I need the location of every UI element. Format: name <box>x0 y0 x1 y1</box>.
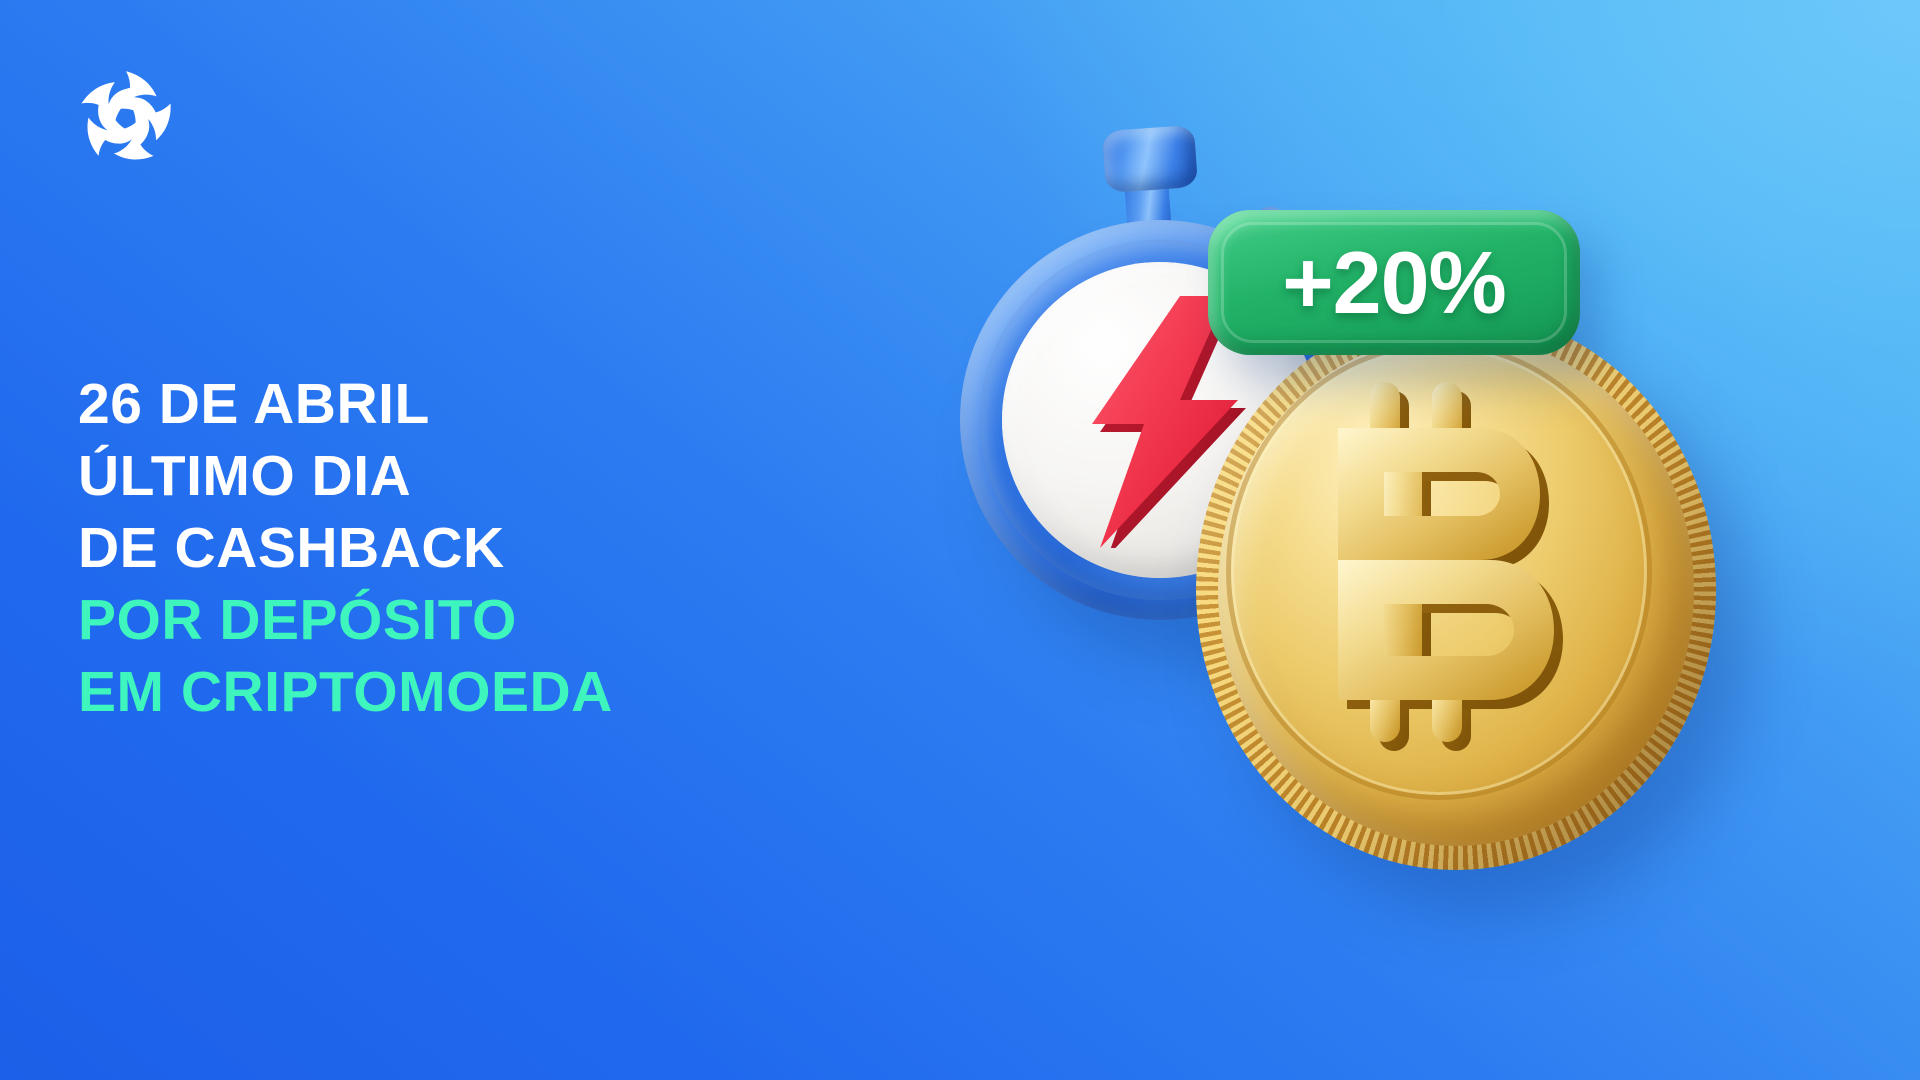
discount-badge-label: +20% <box>1282 239 1506 327</box>
brand-logo[interactable] <box>72 64 180 172</box>
promo-banner: 26 DE ABRIL ÚLTIMO DIA DE CASHBACK POR D… <box>0 0 1920 1080</box>
stopwatch-crown-cap <box>1102 125 1198 193</box>
headline-line-3: DE CASHBACK <box>78 512 898 584</box>
bitcoin-symbol-icon <box>1292 382 1582 752</box>
headline-line-1: 26 DE ABRIL <box>78 368 898 440</box>
headline: 26 DE ABRIL ÚLTIMO DIA DE CASHBACK POR D… <box>78 368 898 728</box>
headline-line-2: ÚLTIMO DIA <box>78 440 898 512</box>
headline-line-5: EM CRIPTOMOEDA <box>78 656 898 728</box>
promo-artwork: +20% <box>960 60 1920 1020</box>
bitcoin-coin-illustration <box>1196 310 1716 870</box>
headline-line-4: POR DEPÓSITO <box>78 584 898 656</box>
swirl-ring-logo-icon <box>72 64 180 172</box>
discount-badge[interactable]: +20% <box>1208 210 1580 355</box>
